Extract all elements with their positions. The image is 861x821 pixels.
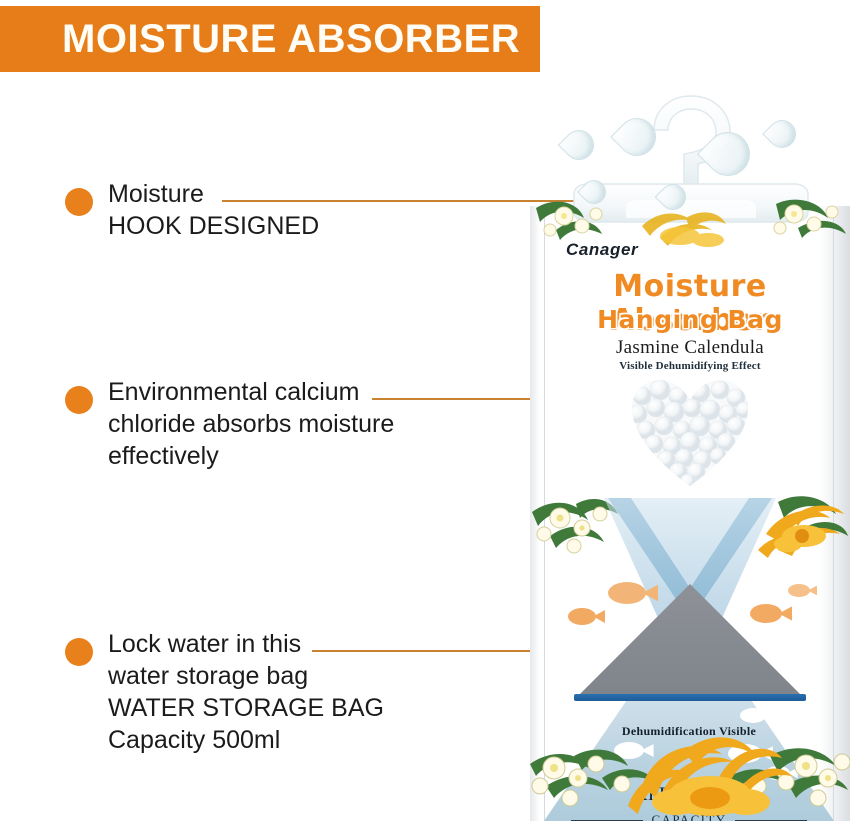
dehumidification-illustration: Dehumidification Visible bbox=[544, 498, 834, 821]
feature-water-line-2: water storage bag bbox=[108, 660, 384, 692]
capacity-rule-left bbox=[571, 820, 643, 821]
capacity-caption: CAPACITY bbox=[651, 812, 726, 821]
fish-icon bbox=[728, 744, 762, 763]
fish-icon bbox=[788, 584, 810, 597]
feature-calcium-line-1: Environmental calcium bbox=[108, 376, 394, 408]
feature-water-text: Lock water in this water storage bag WAT… bbox=[108, 628, 384, 756]
capacity-value: 500ml bbox=[673, 776, 744, 806]
fish-icon bbox=[614, 742, 644, 759]
package-claim: Visible Dehumidifying Effect bbox=[530, 360, 850, 372]
infographic-page: MOISTURE ABSORBER Moisture HOOK DESIGNED… bbox=[0, 0, 861, 821]
capacity-prefix: APP. bbox=[634, 784, 674, 805]
water-surface-line bbox=[574, 694, 806, 701]
package-subtitle: Hanging Bag bbox=[530, 306, 850, 334]
capacity-rule-right bbox=[735, 820, 807, 821]
hanger-hook-icon bbox=[530, 88, 850, 238]
bead-heart-graphic bbox=[630, 378, 750, 490]
bullet-dot-icon bbox=[65, 638, 93, 666]
feature-water-line-4: Capacity 500ml bbox=[108, 724, 384, 756]
feature-hook-line-2: HOOK DESIGNED bbox=[108, 210, 319, 242]
fish-icon bbox=[750, 604, 782, 623]
fish-icon bbox=[740, 708, 766, 723]
capacity-block: APP.500ml CAPACITY bbox=[544, 776, 834, 821]
feature-hook-text: Moisture HOOK DESIGNED bbox=[108, 178, 319, 242]
feature-calcium-line-2: chloride absorbs moisture bbox=[108, 408, 394, 440]
dehumidification-label: Dehumidification Visible bbox=[544, 724, 834, 739]
feature-water-line-1: Lock water in this bbox=[108, 628, 384, 660]
mountain-shape bbox=[574, 584, 806, 700]
header-banner: MOISTURE ABSORBER bbox=[0, 6, 540, 72]
feature-water-line-3: WATER STORAGE BAG bbox=[108, 692, 384, 724]
fish-icon bbox=[608, 582, 646, 604]
bullet-dot-icon bbox=[65, 188, 93, 216]
product-package: Canager Moisture Absorber Hanging Bag Ja… bbox=[530, 88, 850, 821]
feature-calcium-line-3: effectively bbox=[108, 440, 394, 472]
feature-hook-line-1: Moisture bbox=[108, 178, 319, 210]
capacity-value-row: APP.500ml bbox=[544, 776, 834, 810]
feature-calcium-text: Environmental calcium chloride absorbs m… bbox=[108, 376, 394, 472]
capacity-caption-row: CAPACITY bbox=[544, 812, 834, 821]
brand-name: Canager bbox=[566, 240, 638, 260]
package-scent: Jasmine Calendula bbox=[530, 337, 850, 359]
page-title: MOISTURE ABSORBER bbox=[62, 19, 520, 59]
bullet-dot-icon bbox=[65, 386, 93, 414]
fish-icon bbox=[568, 608, 596, 625]
